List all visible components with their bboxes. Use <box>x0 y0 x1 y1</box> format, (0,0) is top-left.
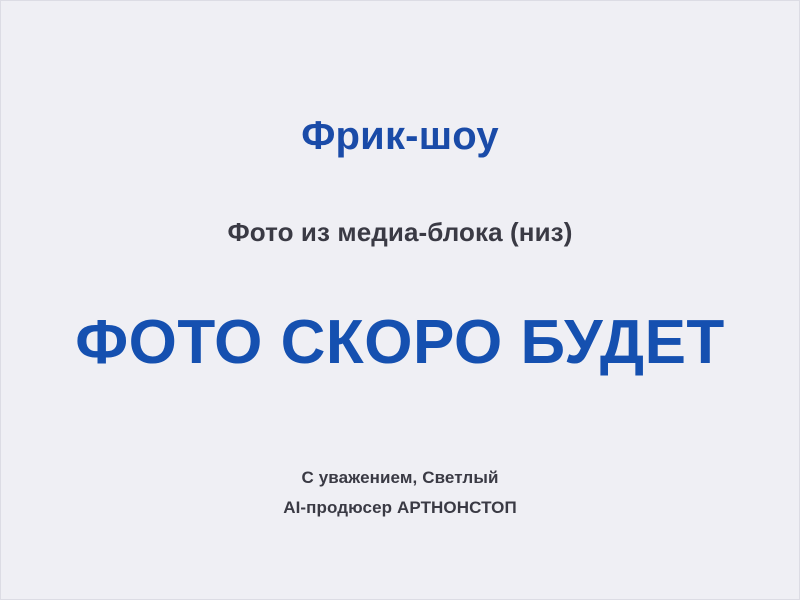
signature-line-regards: С уважением, Светлый <box>1 463 799 493</box>
signature-block: С уважением, Светлый AI-продюсер АРТНОНС… <box>1 463 799 523</box>
placeholder-content: Фрик-шоу Фото из медиа-блока (низ) ФОТО … <box>1 1 799 599</box>
signature-line-producer: AI-продюсер АРТНОНСТОП <box>1 493 799 523</box>
media-slot-subtitle: Фото из медиа-блока (низ) <box>1 215 799 249</box>
coming-soon-headline: ФОТО СКОРО БУДЕТ <box>1 307 799 379</box>
photo-placeholder-card: Фрик-шоу Фото из медиа-блока (низ) ФОТО … <box>0 0 800 600</box>
show-title: Фрик-шоу <box>1 111 799 161</box>
